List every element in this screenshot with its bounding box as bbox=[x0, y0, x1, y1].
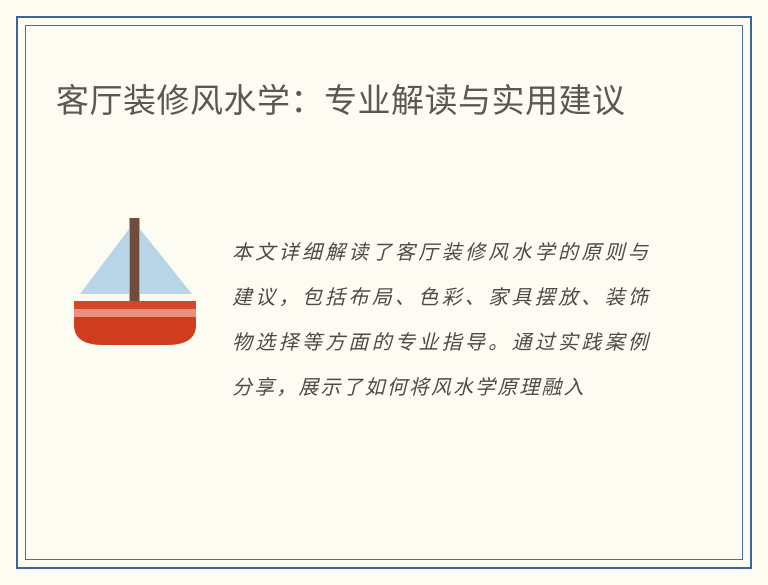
illustration-container bbox=[70, 209, 200, 349]
hull-icon bbox=[74, 317, 196, 345]
article-summary: 本文详细解读了客厅装修风水学的原则与建议，包括布局、色彩、家具摆放、装饰物选择等… bbox=[232, 231, 650, 411]
article-card: 客厅装修风水学：专业解读与实用建议 本文详细解读了客厅装修风水学的原则与建议，包… bbox=[0, 0, 768, 585]
page-title: 客厅装修风水学：专业解读与实用建议 bbox=[56, 79, 646, 123]
hull-top-icon bbox=[74, 301, 196, 309]
hull-stripe-icon bbox=[74, 309, 196, 317]
article-content: 本文详细解读了客厅装修风水学的原则与建议，包括布局、色彩、家具摆放、装饰物选择等… bbox=[56, 205, 656, 475]
mast-icon bbox=[130, 218, 140, 303]
sailboat-icon bbox=[70, 209, 200, 349]
sail-right-icon bbox=[140, 229, 192, 294]
sail-left-icon bbox=[80, 229, 129, 294]
